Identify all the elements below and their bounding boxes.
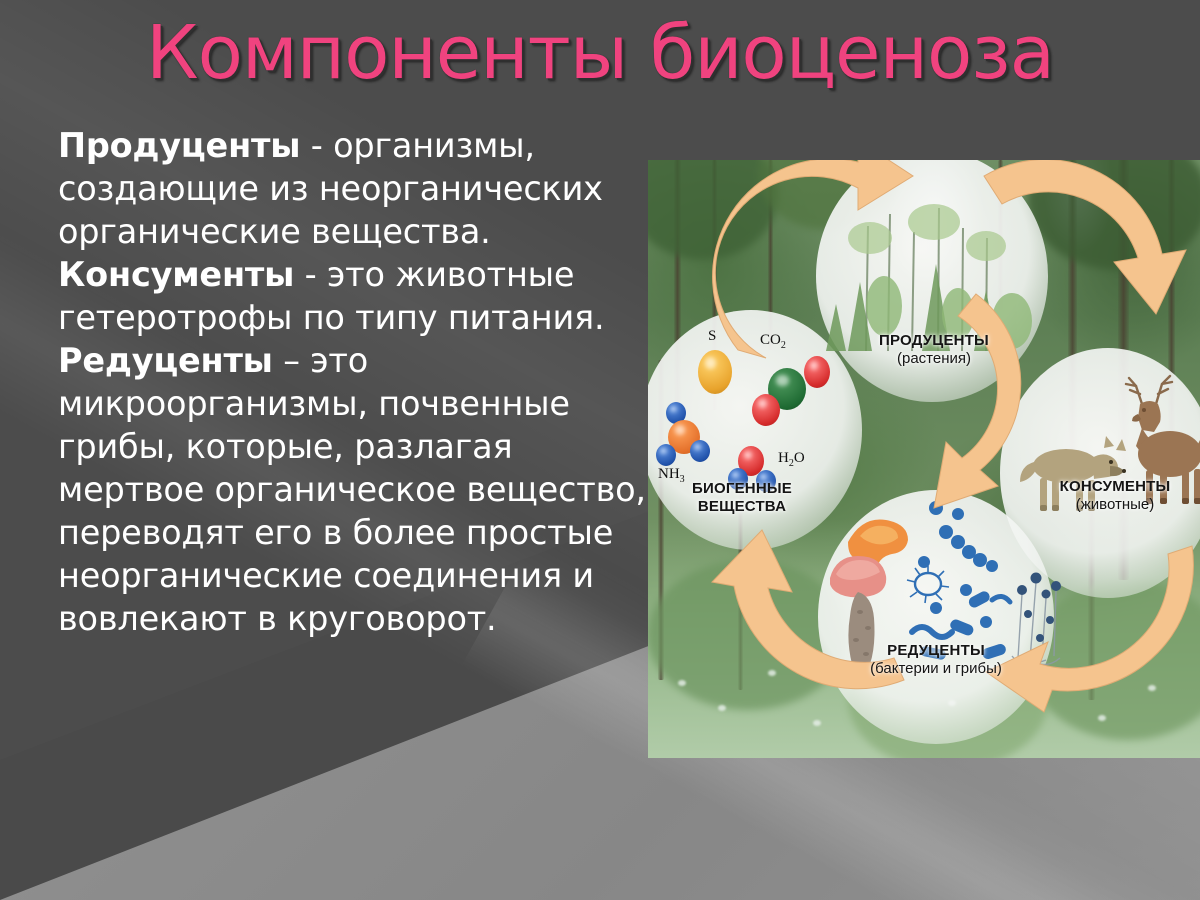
meadow-flower xyxy=(1148,685,1156,691)
producers-trees-illustration xyxy=(826,186,1046,351)
foliage-blob xyxy=(648,560,848,710)
body-text-block: Продуценты - организмы, создающие из нео… xyxy=(58,124,658,640)
label-consumers: КОНСУМЕНТЫ (животные) xyxy=(1020,478,1200,513)
label-producers-main: ПРОДУЦЕНТЫ xyxy=(824,332,1044,350)
paragraph-producers: Продуценты - организмы, создающие из нео… xyxy=(58,124,658,253)
label-reducers: РЕДУЦЕНТЫ (бактерии и грибы) xyxy=(814,642,1058,677)
label-biogenic-main: БИОГЕННЫЕ xyxy=(652,480,832,498)
label-biogenic-sub: ВЕЩЕСТВА xyxy=(652,498,832,516)
label-consumers-main: КОНСУМЕНТЫ xyxy=(1020,478,1200,496)
atom-hydrogen xyxy=(656,444,676,466)
definition-reducers: – это микроорганизмы, почвенные грибы, к… xyxy=(58,341,646,638)
meadow-flower xyxy=(718,705,726,711)
label-producers-sub: (растения) xyxy=(824,350,1044,368)
molecule-label-sulfur: S xyxy=(708,328,716,345)
molecule-label-co2: CO2 xyxy=(760,332,786,351)
label-reducers-sub: (бактерии и грибы) xyxy=(814,660,1058,678)
meadow-flower xyxy=(768,670,776,676)
meadow-flower xyxy=(678,680,686,686)
label-consumers-sub: (животные) xyxy=(1020,496,1200,514)
label-reducers-main: РЕДУЦЕНТЫ xyxy=(814,642,1058,660)
biocenosis-cycle-image: S CO2 NH3 H2O xyxy=(648,160,1200,758)
label-producers: ПРОДУЦЕНТЫ (растения) xyxy=(824,332,1044,367)
atom-sulfur xyxy=(698,350,732,394)
molecule-label-h2o: H2O xyxy=(778,450,805,469)
label-biogenic: БИОГЕННЫЕ ВЕЩЕСТВА xyxy=(652,480,832,515)
paragraph-reducers: Редуценты – это микроорганизмы, почвенны… xyxy=(58,339,658,640)
slide: Компоненты биоценоза Продуценты - органи… xyxy=(0,0,1200,900)
slide-title: Компоненты биоценоза xyxy=(0,16,1200,90)
term-reducers: Редуценты xyxy=(58,341,273,380)
atom-oxygen xyxy=(752,394,780,426)
term-consumers: Консументы xyxy=(58,255,294,294)
meadow-flower xyxy=(1098,715,1106,721)
paragraph-consumers: Консументы - это животные гетеротрофы по… xyxy=(58,253,658,339)
term-producers: Продуценты xyxy=(58,126,300,165)
atom-hydrogen xyxy=(690,440,710,462)
meadow-flower xyxy=(813,720,821,726)
